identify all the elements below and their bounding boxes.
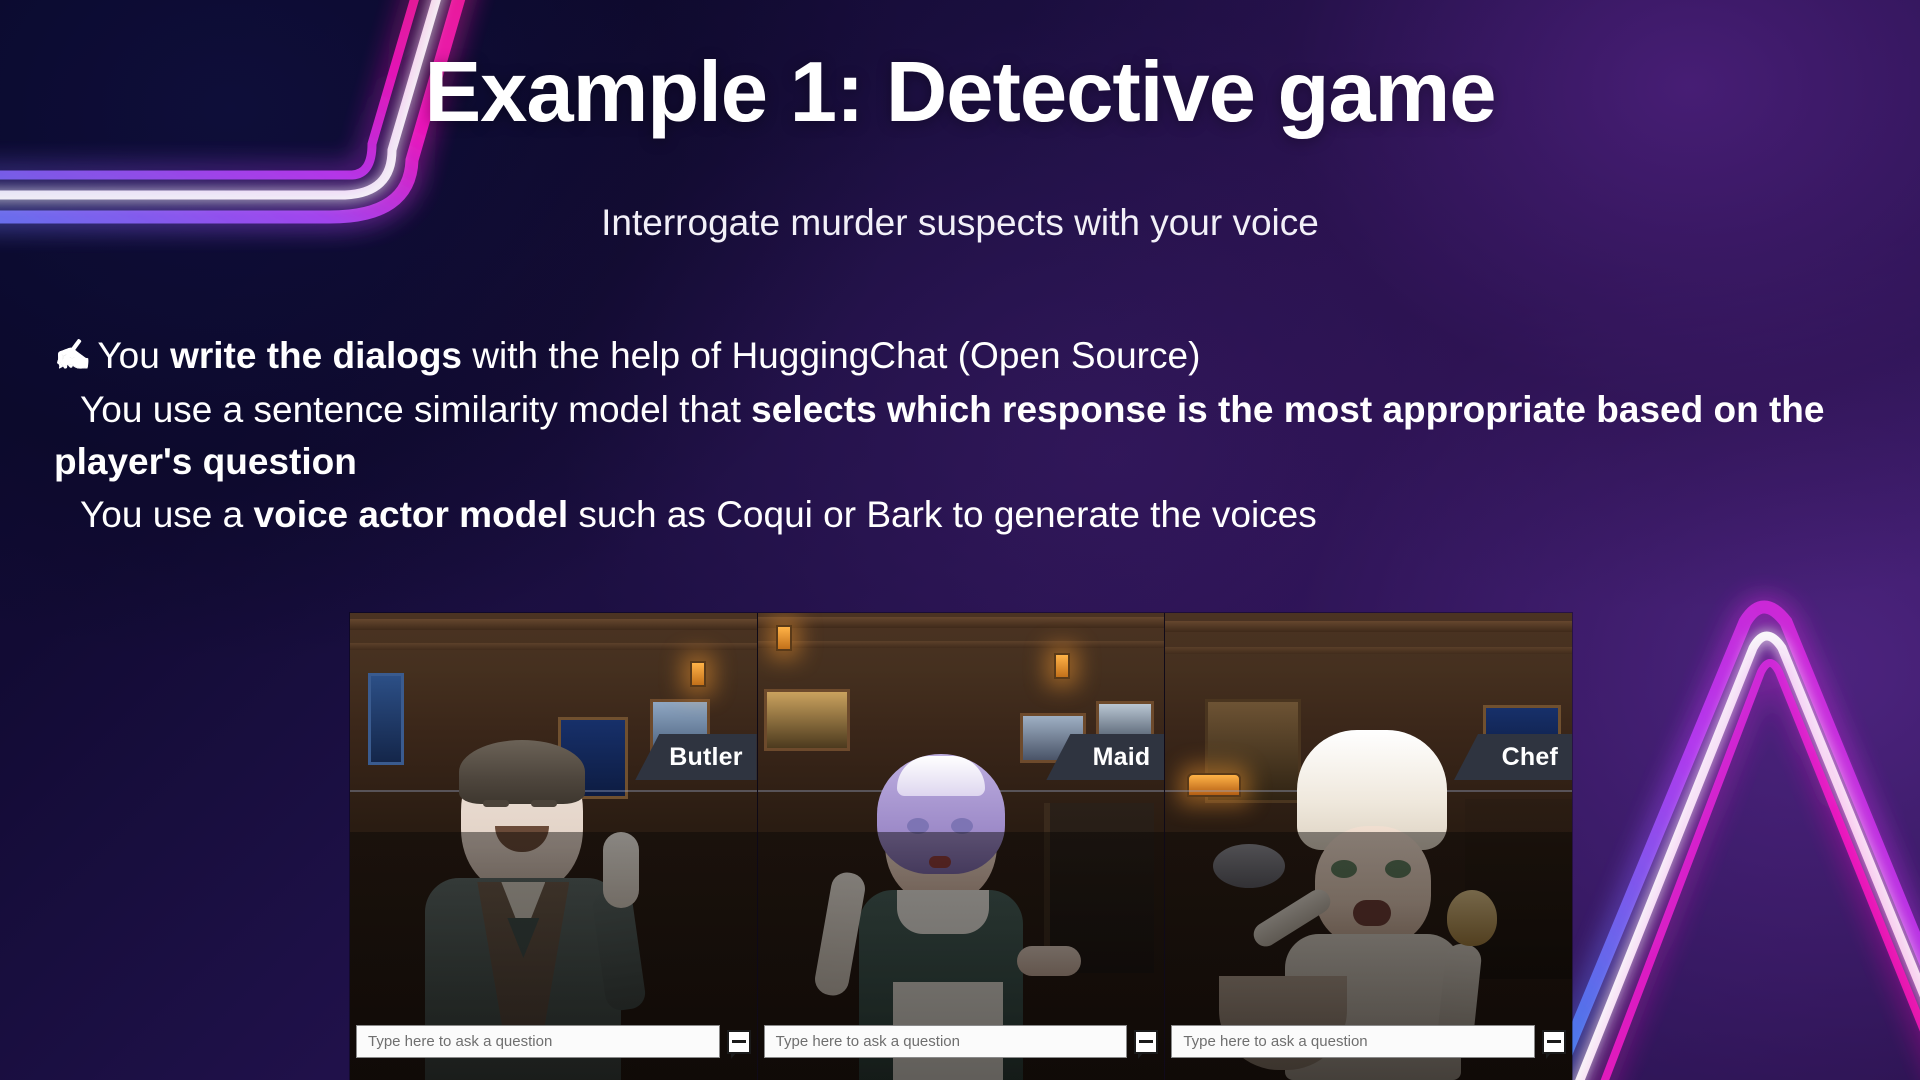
- input-row-butler: Type here to ask a question: [356, 1025, 751, 1058]
- bullet-3-seg-1: You use a: [80, 494, 254, 535]
- game-panel-maid[interactable]: Maid Type here to ask a question: [758, 613, 1166, 1080]
- bullet-list: ✍You write the dialogs with the help of …: [54, 330, 1866, 543]
- bullet-3-seg-2: voice actor model: [254, 494, 569, 535]
- game-panel-chef[interactable]: Chef Type here to ask a question: [1165, 613, 1572, 1080]
- keyboard-chat-icon[interactable]: [1134, 1030, 1158, 1054]
- bullet-item-3: You use a voice actor model such as Coqu…: [54, 489, 1866, 541]
- room-background-butler: [350, 613, 757, 1080]
- slide-canvas: Example 1: Detective game Interrogate mu…: [0, 0, 1920, 1080]
- bullet-2-seg-1: You use a sentence similarity model that: [80, 389, 751, 430]
- question-input-butler[interactable]: Type here to ask a question: [356, 1025, 720, 1058]
- game-screenshot: Butler Type here to ask a question: [350, 613, 1572, 1080]
- game-panel-butler[interactable]: Butler Type here to ask a question: [350, 613, 758, 1080]
- input-row-maid: Type here to ask a question: [764, 1025, 1159, 1058]
- nameplate-label: Maid: [1093, 743, 1151, 772]
- keyboard-chat-icon[interactable]: [727, 1030, 751, 1054]
- bullet-1-seg-1: You: [97, 335, 170, 376]
- room-background-maid: [758, 613, 1165, 1080]
- nameplate-label: Chef: [1502, 743, 1558, 772]
- page-title: Example 1: Detective game: [0, 48, 1920, 137]
- nameplate-label: Butler: [669, 743, 742, 772]
- input-row-chef: Type here to ask a question: [1171, 1025, 1566, 1058]
- page-subtitle: Interrogate murder suspects with your vo…: [0, 202, 1920, 244]
- bullet-item-1: ✍You write the dialogs with the help of …: [54, 330, 1866, 382]
- keyboard-chat-icon[interactable]: [1542, 1030, 1566, 1054]
- bullet-item-2: You use a sentence similarity model that…: [54, 384, 1866, 488]
- writing-hand-icon: ✍: [54, 335, 91, 377]
- bullet-1-seg-3: with the help of HuggingChat (Open Sourc…: [462, 335, 1200, 376]
- question-input-chef[interactable]: Type here to ask a question: [1171, 1025, 1535, 1058]
- bullet-3-seg-3: such as Coqui or Bark to generate the vo…: [568, 494, 1317, 535]
- room-background-chef: [1165, 613, 1572, 1080]
- neon-tube-chevron-group: [1530, 607, 1920, 1080]
- bullet-1-seg-2: write the dialogs: [170, 335, 462, 376]
- question-input-maid[interactable]: Type here to ask a question: [764, 1025, 1128, 1058]
